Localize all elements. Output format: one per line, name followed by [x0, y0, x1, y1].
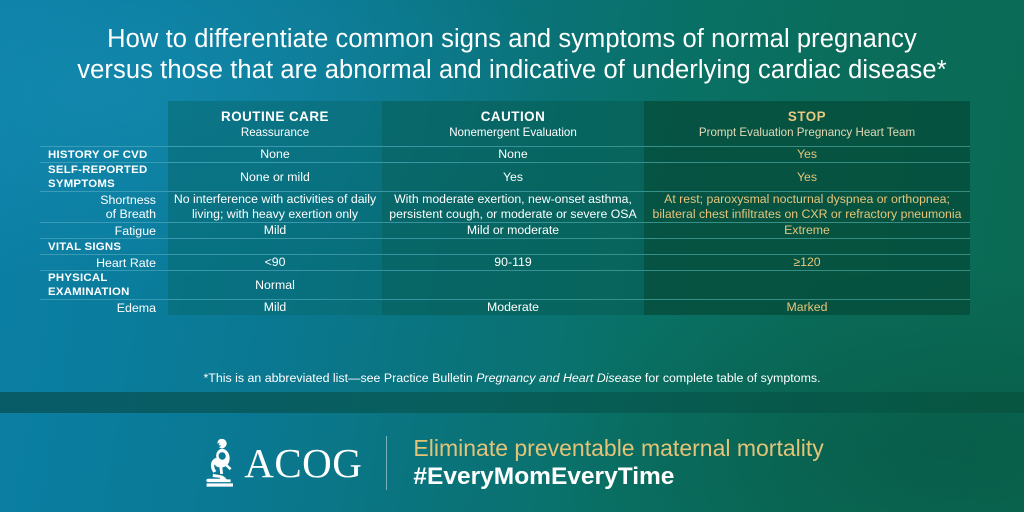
headline-line-1: How to differentiate common signs and sy… — [0, 24, 1024, 55]
column-header-routine-care: ROUTINE CARE Reassurance — [168, 101, 382, 147]
footnote-prefix: *This is an abbreviated list—see Practic… — [203, 371, 476, 385]
table-row: Edema Mild Moderate Marked — [40, 300, 970, 316]
column-header-routine-care-subtitle: Reassurance — [168, 125, 382, 140]
cell-edema-routine: Mild — [168, 300, 382, 316]
footer-hashtag: #EveryMomEveryTime — [413, 462, 823, 491]
row-label-fatigue: Fatigue — [40, 223, 168, 239]
cell-fatigue-stop: Extreme — [644, 223, 970, 239]
row-label-history-of-cvd: HISTORY OF CVD — [40, 147, 168, 163]
header-corner-cell — [40, 101, 168, 147]
table-row: VITAL SIGNS — [40, 239, 970, 255]
footer-divider-band — [0, 392, 1024, 413]
table-row: Fatigue Mild Mild or moderate Extreme — [40, 223, 970, 239]
cell-self-reported-symptoms-stop: Yes — [644, 163, 970, 192]
cell-shortness-of-breath-caution-line-1: With moderate exertion, new-onset asthma… — [382, 192, 644, 207]
column-header-caution-title: CAUTION — [382, 108, 644, 125]
cell-history-of-cvd-routine: None — [168, 147, 382, 163]
acog-seated-figure-icon — [200, 437, 238, 489]
cell-shortness-of-breath-caution-line-2: persistent cough, or moderate or severe … — [382, 207, 644, 222]
row-label-physical-examination-line-1: PHYSICAL — [48, 271, 168, 285]
acog-logo: ACOG — [200, 437, 386, 489]
cell-history-of-cvd-caution: None — [382, 147, 644, 163]
cell-heart-rate-stop: ≥120 — [644, 255, 970, 271]
column-header-stop: STOP Prompt Evaluation Pregnancy Heart T… — [644, 101, 970, 147]
footer-vertical-divider — [386, 436, 387, 490]
footnote-suffix: for complete table of symptoms. — [641, 371, 820, 385]
cell-fatigue-caution: Mild or moderate — [382, 223, 644, 239]
row-label-shortness-of-breath-line-2: of Breath — [40, 207, 156, 221]
headline-line-2: versus those that are abnormal and indic… — [0, 55, 1024, 86]
row-label-self-reported-symptoms-line-2: SYMPTOMS — [48, 177, 168, 191]
page-title: How to differentiate common signs and sy… — [0, 24, 1024, 86]
row-label-shortness-of-breath: Shortness of Breath — [40, 192, 168, 223]
row-label-shortness-of-breath-line-1: Shortness — [40, 193, 156, 207]
table-row: PHYSICAL EXAMINATION Normal — [40, 271, 970, 300]
cell-edema-stop: Marked — [644, 300, 970, 316]
cell-self-reported-symptoms-routine: None or mild — [168, 163, 382, 192]
table-row: SELF-REPORTED SYMPTOMS None or mild Yes … — [40, 163, 970, 192]
cell-shortness-of-breath-routine-line-2: living; with heavy exertion only — [168, 207, 382, 222]
footer-tagline: Eliminate preventable maternal mortality… — [413, 434, 823, 491]
footer: ACOG Eliminate preventable maternal mort… — [0, 413, 1024, 512]
cell-physical-examination-stop — [644, 271, 970, 300]
cell-history-of-cvd-stop: Yes — [644, 147, 970, 163]
cell-shortness-of-breath-stop: At rest; paroxysmal nocturnal dyspnea or… — [644, 192, 970, 223]
row-label-edema: Edema — [40, 300, 168, 316]
row-label-heart-rate: Heart Rate — [40, 255, 168, 271]
column-header-caution-subtitle: Nonemergent Evaluation — [382, 125, 644, 140]
table-row: Shortness of Breath No interference with… — [40, 192, 970, 223]
table-row: Heart Rate <90 90-119 ≥120 — [40, 255, 970, 271]
column-header-stop-subtitle: Prompt Evaluation Pregnancy Heart Team — [644, 125, 970, 140]
cell-shortness-of-breath-caution: With moderate exertion, new-onset asthma… — [382, 192, 644, 223]
cell-shortness-of-breath-stop-line-1: At rest; paroxysmal nocturnal dyspnea or… — [644, 192, 970, 207]
cell-shortness-of-breath-stop-line-2: bilateral chest infiltrates on CXR or re… — [644, 207, 970, 222]
row-label-self-reported-symptoms-line-1: SELF-REPORTED — [48, 163, 168, 177]
cell-vital-signs-caution — [382, 239, 644, 255]
column-header-routine-care-title: ROUTINE CARE — [168, 108, 382, 125]
cell-fatigue-routine: Mild — [168, 223, 382, 239]
cell-vital-signs-stop — [644, 239, 970, 255]
footnote: *This is an abbreviated list—see Practic… — [0, 370, 1024, 386]
cell-physical-examination-routine: Normal — [168, 271, 382, 300]
row-label-physical-examination: PHYSICAL EXAMINATION — [40, 271, 168, 300]
cell-vital-signs-routine — [168, 239, 382, 255]
cell-edema-caution: Moderate — [382, 300, 644, 316]
acog-wordmark: ACOG — [244, 441, 362, 485]
column-header-caution: CAUTION Nonemergent Evaluation — [382, 101, 644, 147]
infographic-poster: How to differentiate common signs and sy… — [0, 0, 1024, 512]
column-header-stop-title: STOP — [644, 108, 970, 125]
cell-self-reported-symptoms-caution: Yes — [382, 163, 644, 192]
footnote-italic-title: Pregnancy and Heart Disease — [476, 371, 641, 385]
symptoms-table: ROUTINE CARE Reassurance CAUTION Nonemer… — [40, 101, 970, 315]
table-header-row: ROUTINE CARE Reassurance CAUTION Nonemer… — [40, 101, 970, 147]
cell-shortness-of-breath-routine-line-1: No interference with activities of daily — [168, 192, 382, 207]
cell-shortness-of-breath-routine: No interference with activities of daily… — [168, 192, 382, 223]
row-label-physical-examination-line-2: EXAMINATION — [48, 285, 168, 299]
cell-heart-rate-caution: 90-119 — [382, 255, 644, 271]
cell-heart-rate-routine: <90 — [168, 255, 382, 271]
row-label-vital-signs: VITAL SIGNS — [40, 239, 168, 255]
cell-physical-examination-caution — [382, 271, 644, 300]
row-label-self-reported-symptoms: SELF-REPORTED SYMPTOMS — [40, 163, 168, 192]
table-row: HISTORY OF CVD None None Yes — [40, 147, 970, 163]
footer-tagline-line-1: Eliminate preventable maternal mortality — [413, 434, 823, 462]
